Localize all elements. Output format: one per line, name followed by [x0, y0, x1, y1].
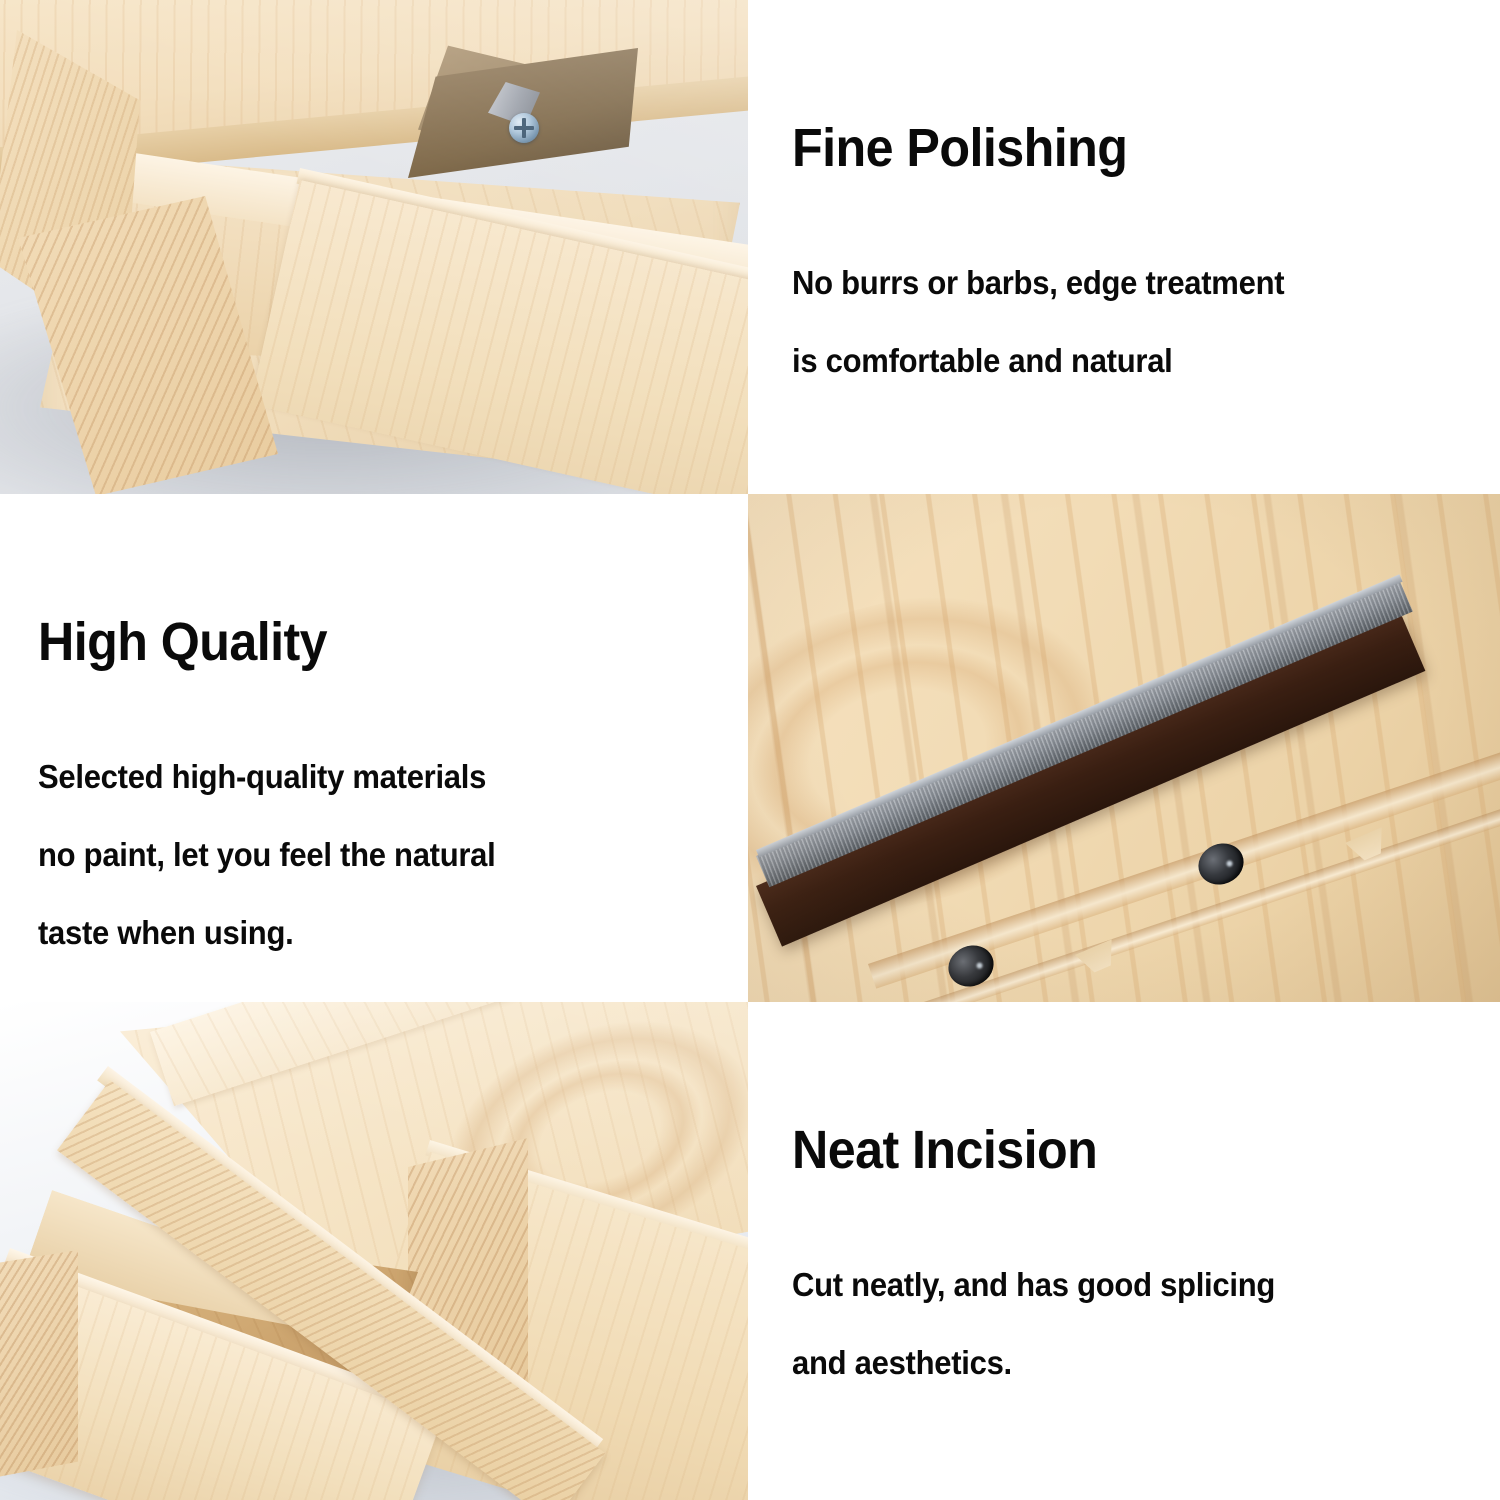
photo-blade-closeup-scene: [748, 494, 1500, 1002]
feature-body-line: Selected high-quality materials: [38, 738, 495, 816]
product-feature-infographic: Fine Polishing No burrs or barbs, edge t…: [0, 0, 1500, 1500]
feature-textblock: High Quality Selected high-quality mater…: [0, 494, 748, 1002]
feature-body-neat-incision: Cut neatly, and has good splicing and ae…: [792, 1246, 1306, 1402]
feature-title-neat-incision: Neat Incision: [792, 1120, 1270, 1180]
feature-body-fine-polishing: No burrs or barbs, edge treatment is com…: [792, 244, 1316, 400]
photo-mold-corner: [0, 0, 748, 494]
feature-body-line: Cut neatly, and has good splicing: [792, 1246, 1275, 1324]
zinc-phillips-screw: [509, 113, 539, 143]
feature-textblock: Neat Incision Cut neatly, and has good s…: [748, 1002, 1500, 1500]
feature-body-line: is comfortable and natural: [792, 322, 1284, 400]
photo-mold-with-drawer: [0, 1002, 748, 1500]
feature-block-neat-incision: Neat Incision Cut neatly, and has good s…: [748, 1002, 1500, 1500]
feature-body-line: no paint, let you feel the natural: [38, 816, 495, 894]
feature-block-fine-polishing: Fine Polishing No burrs or barbs, edge t…: [748, 0, 1500, 494]
feature-title-high-quality: High Quality: [38, 612, 491, 672]
feature-title-fine-polishing: Fine Polishing: [792, 118, 1279, 178]
photo-blade-closeup: [748, 494, 1500, 1002]
feature-body-line: and aesthetics.: [792, 1324, 1275, 1402]
drawer-end-grain: [0, 1250, 78, 1480]
feature-body-line: No burrs or barbs, edge treatment: [792, 244, 1284, 322]
feature-text-inner: Neat Incision Cut neatly, and has good s…: [792, 1120, 1306, 1402]
feature-text-inner: Fine Polishing No burrs or barbs, edge t…: [792, 118, 1316, 400]
feature-block-high-quality: High Quality Selected high-quality mater…: [0, 494, 748, 1002]
photo-mold-with-drawer-scene: [0, 1002, 748, 1500]
feature-body-high-quality: Selected high-quality materials no paint…: [38, 738, 525, 972]
feature-body-line: taste when using.: [38, 894, 495, 972]
feature-text-inner: High Quality Selected high-quality mater…: [38, 612, 525, 972]
feature-textblock: Fine Polishing No burrs or barbs, edge t…: [748, 0, 1500, 494]
photo-mold-corner-scene: [0, 0, 748, 494]
